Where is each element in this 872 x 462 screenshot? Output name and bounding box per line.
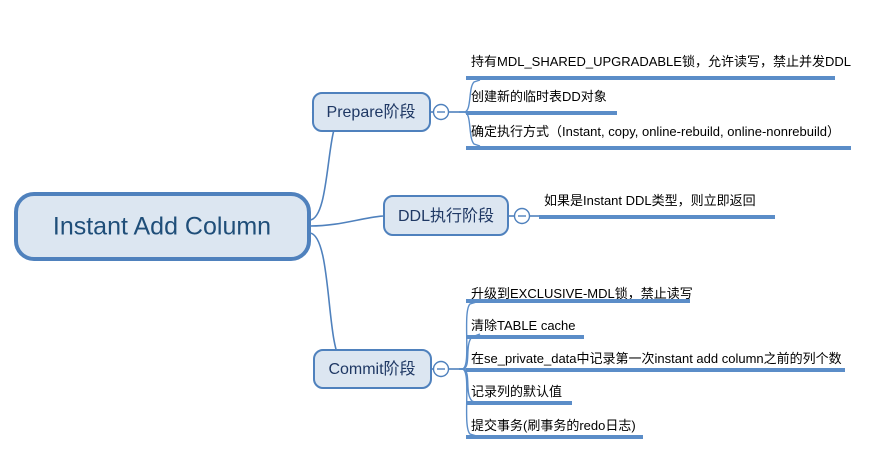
- connector-root-to-commit: [310, 233, 342, 368]
- collapse-toggle-prepare[interactable]: [434, 105, 449, 120]
- branch-prepare[interactable]: Prepare阶段 持有MDL_SHARED_UPGRADABLE锁，允许读写，…: [313, 54, 851, 148]
- leaf-commit-5-label: 提交事务(刷事务的redo日志): [471, 418, 636, 433]
- leaf-commit-2-label: 清除TABLE cache: [471, 318, 576, 333]
- branch-ddl-exec-label: DDL执行阶段: [398, 207, 494, 225]
- leaf-commit-2[interactable]: 清除TABLE cache: [466, 318, 584, 337]
- leaf-commit-1-label: 升级到EXCLUSIVE-MDL锁，禁止读写: [471, 286, 693, 301]
- branch-prepare-label: Prepare阶段: [327, 103, 416, 121]
- leaf-prepare-3[interactable]: 确定执行方式（Instant, copy, online-rebuild, on…: [466, 124, 851, 148]
- leaf-prepare-3-label: 确定执行方式（Instant, copy, online-rebuild, on…: [471, 124, 840, 139]
- leaf-ddl-exec-1[interactable]: 如果是Instant DDL类型，则立即返回: [539, 193, 775, 217]
- branch-commit-label: Commit阶段: [328, 360, 415, 378]
- collapse-toggle-ddl-exec[interactable]: [515, 209, 530, 224]
- root-node-label: Instant Add Column: [53, 213, 271, 241]
- leaf-prepare-2[interactable]: 创建新的临时表DD对象: [466, 89, 617, 113]
- mind-map-canvas: Instant Add Column Prepare阶段 持有MDL_SHARE…: [0, 0, 872, 462]
- leaf-commit-3[interactable]: 在se_private_data中记录第一次instant add column…: [466, 351, 845, 370]
- leaf-commit-4-label: 记录列的默认值: [471, 384, 562, 399]
- branch-commit[interactable]: Commit阶段 升级到EXCLUSIVE-MDL锁，禁止读写 清除TABLE …: [314, 286, 845, 437]
- leaf-prepare-1-label: 持有MDL_SHARED_UPGRADABLE锁，允许读写，禁止并发DDL: [471, 54, 851, 69]
- root-node[interactable]: Instant Add Column: [16, 194, 309, 259]
- collapse-toggle-commit[interactable]: [434, 362, 449, 377]
- leaf-ddl-exec-1-label: 如果是Instant DDL类型，则立即返回: [544, 193, 756, 208]
- leaf-prepare-1[interactable]: 持有MDL_SHARED_UPGRADABLE锁，允许读写，禁止并发DDL: [466, 54, 851, 78]
- root-branch-connectors: [310, 112, 383, 368]
- leaf-commit-1[interactable]: 升级到EXCLUSIVE-MDL锁，禁止读写: [466, 286, 693, 301]
- leaf-commit-4[interactable]: 记录列的默认值: [466, 384, 572, 403]
- leaf-commit-5[interactable]: 提交事务(刷事务的redo日志): [466, 418, 643, 437]
- leaf-prepare-2-label: 创建新的临时表DD对象: [471, 89, 607, 104]
- branch-ddl-exec[interactable]: DDL执行阶段 如果是Instant DDL类型，则立即返回: [384, 193, 775, 235]
- leaf-commit-3-label: 在se_private_data中记录第一次instant add column…: [471, 351, 842, 366]
- connector-root-to-ddl-exec: [310, 216, 383, 226]
